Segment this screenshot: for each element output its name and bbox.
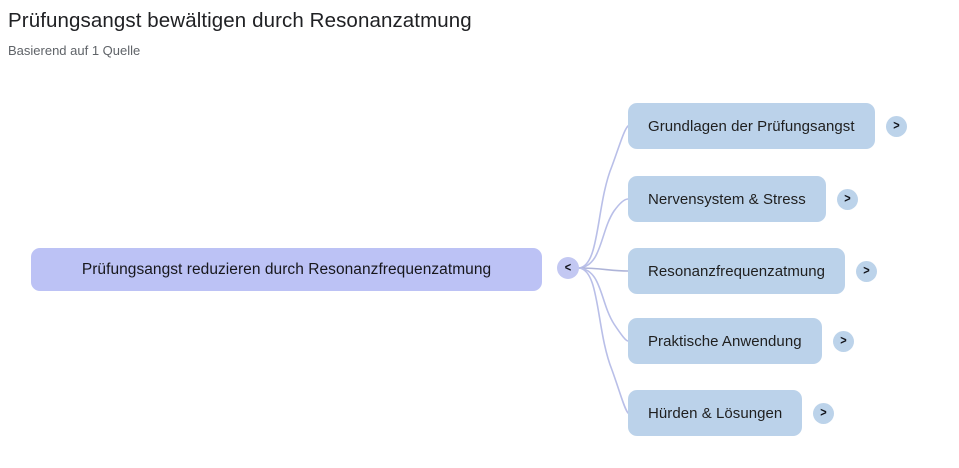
mindmap-root-node[interactable]: Prüfungsangst reduzieren durch Resonanzf… bbox=[31, 248, 542, 291]
connector-to-child-4 bbox=[579, 268, 628, 341]
mindmap-child-node-2[interactable]: Nervensystem & Stress bbox=[628, 176, 826, 222]
child-node-label: Praktische Anwendung bbox=[648, 333, 802, 350]
mindmap-connector-lines bbox=[0, 0, 959, 468]
mindmap-child-node-1[interactable]: Grundlagen der Prüfungsangst bbox=[628, 103, 875, 149]
child-4-expand-toggle-chevron-right-icon[interactable]: > bbox=[833, 331, 854, 352]
connector-to-child-3 bbox=[579, 268, 628, 271]
chevron-right-icon: > bbox=[844, 193, 850, 206]
child-5-expand-toggle-chevron-right-icon[interactable]: > bbox=[813, 403, 834, 424]
child-3-expand-toggle-chevron-right-icon[interactable]: > bbox=[856, 261, 877, 282]
connector-to-child-5 bbox=[579, 268, 628, 413]
chevron-right-icon: > bbox=[840, 335, 846, 348]
child-node-label: Hürden & Lösungen bbox=[648, 405, 782, 422]
chevron-left-icon: < bbox=[565, 262, 571, 275]
child-2-expand-toggle-chevron-right-icon[interactable]: > bbox=[837, 189, 858, 210]
child-node-label: Nervensystem & Stress bbox=[648, 191, 806, 208]
mindmap-child-node-3[interactable]: Resonanzfrequenzatmung bbox=[628, 248, 845, 294]
root-collapse-toggle-chevron-left-icon[interactable]: < bbox=[557, 257, 579, 279]
mindmap-child-node-5[interactable]: Hürden & Lösungen bbox=[628, 390, 802, 436]
connector-to-child-1 bbox=[579, 126, 628, 268]
child-1-expand-toggle-chevron-right-icon[interactable]: > bbox=[886, 116, 907, 137]
child-node-label: Grundlagen der Prüfungsangst bbox=[648, 118, 855, 135]
child-node-label: Resonanzfrequenzatmung bbox=[648, 263, 825, 280]
chevron-right-icon: > bbox=[893, 120, 899, 133]
connector-to-child-2 bbox=[579, 199, 628, 268]
chevron-right-icon: > bbox=[863, 265, 869, 278]
mindmap-child-node-4[interactable]: Praktische Anwendung bbox=[628, 318, 822, 364]
chevron-right-icon: > bbox=[820, 407, 826, 420]
mindmap-canvas[interactable]: Prüfungsangst reduzieren durch Resonanzf… bbox=[0, 0, 959, 468]
root-node-label: Prüfungsangst reduzieren durch Resonanzf… bbox=[82, 261, 491, 279]
